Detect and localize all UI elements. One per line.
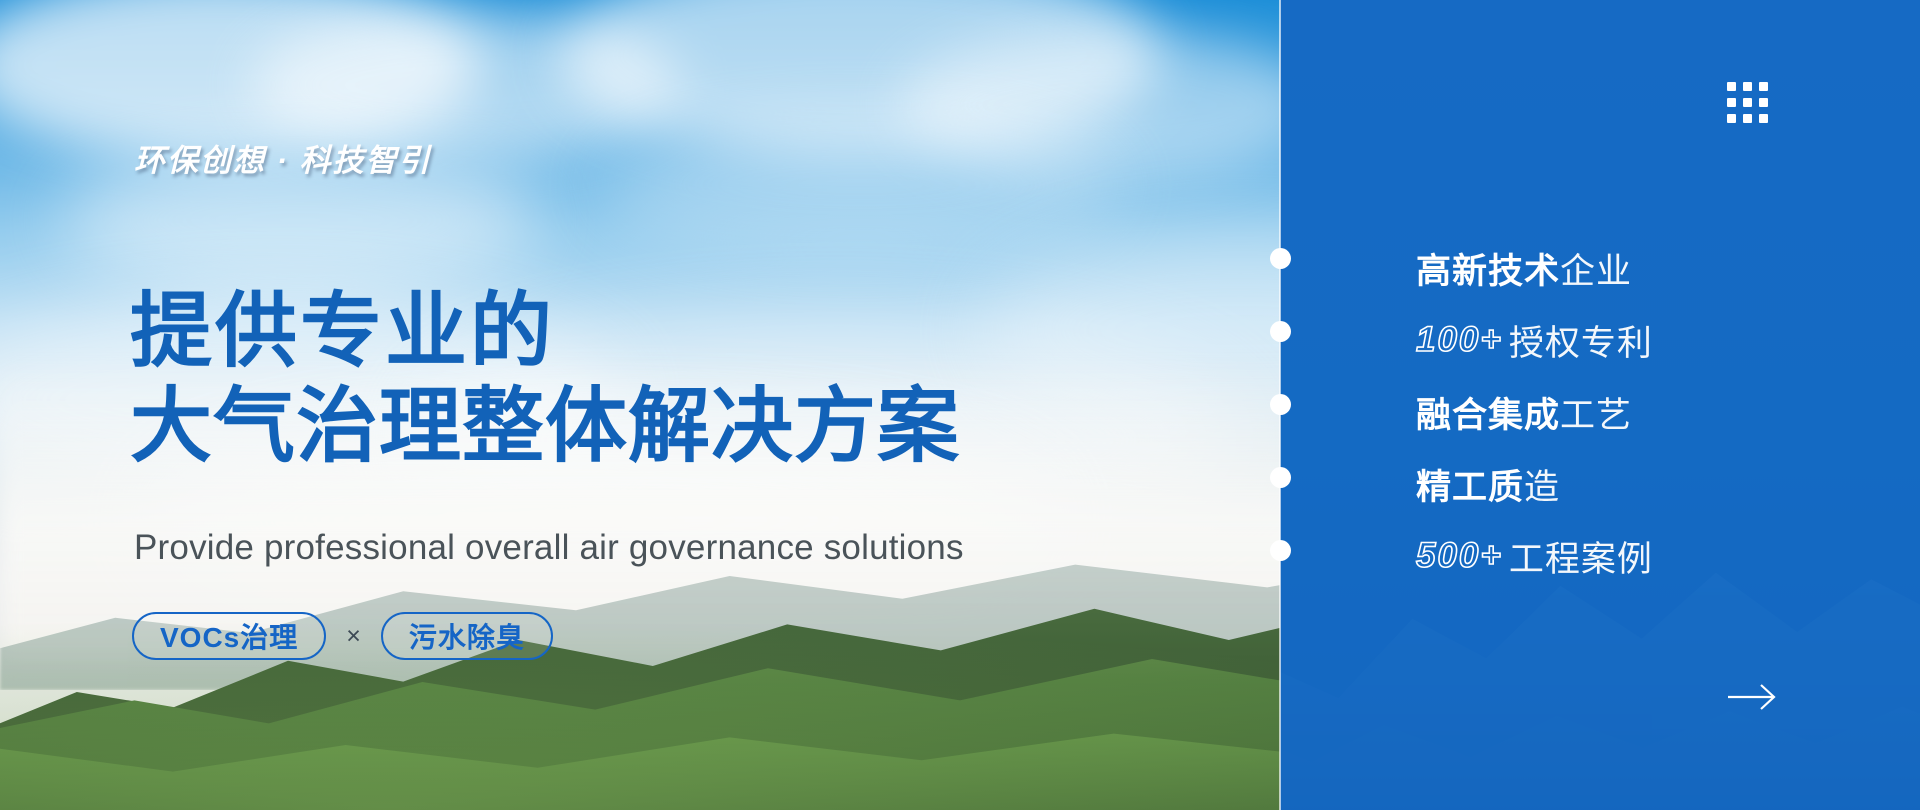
grid-cell [1743, 98, 1752, 107]
tag-separator: × [344, 622, 363, 651]
tagline: 环保创想 · 科技智引 [134, 135, 432, 180]
hero-content: 环保创想 · 科技智引 提供专业的 大气治理整体解决方案 Provide pro… [0, 0, 1280, 810]
feature-rest: 企业 [1560, 243, 1632, 294]
feature-item-cases: 500+工程案例 [1416, 520, 1886, 592]
grid-cell [1743, 82, 1752, 91]
grid-cell [1759, 114, 1768, 123]
arrow-right-icon[interactable] [1728, 682, 1780, 712]
feature-emphasis: 高新技术 [1416, 243, 1560, 294]
feature-rest: 造 [1524, 459, 1560, 510]
hero-banner: 环保创想 · 科技智引 提供专业的 大气治理整体解决方案 Provide pro… [0, 0, 1920, 810]
feature-rest: 工艺 [1560, 387, 1632, 438]
feature-list: 高新技术企业 100+授权专利 融合集成工艺 精工质造 500+工程案例 [1416, 232, 1886, 592]
feature-item-craftsmanship: 精工质造 [1416, 448, 1886, 520]
feature-rest: 工程案例 [1509, 531, 1653, 582]
service-tag-vocs[interactable]: VOCs治理 [132, 612, 326, 660]
feature-item-integration: 融合集成工艺 [1416, 376, 1886, 448]
grid-cell [1759, 98, 1768, 107]
feature-emphasis: 精工质 [1416, 459, 1524, 510]
service-tag-odor[interactable]: 污水除臭 [381, 612, 553, 660]
service-tag-group: VOCs治理 × 污水除臭 [132, 612, 553, 660]
grid-cell [1727, 98, 1736, 107]
grid-cell [1759, 82, 1768, 91]
feature-emphasis: 100+ [1416, 320, 1503, 360]
feature-rest: 授权专利 [1509, 315, 1653, 366]
grid-menu-icon[interactable] [1727, 82, 1768, 123]
feature-item-patents: 100+授权专利 [1416, 304, 1886, 376]
headline-line-2: 大气治理整体解决方案 [130, 379, 960, 474]
feature-emphasis: 融合集成 [1416, 387, 1560, 438]
bullet-dot-column [1280, 0, 1320, 810]
feature-emphasis: 500+ [1416, 536, 1503, 576]
headline-line-1: 提供专业的 [130, 284, 960, 379]
subtitle: Provide professional overall air governa… [134, 528, 964, 568]
grid-cell [1743, 114, 1752, 123]
feature-item-high-tech: 高新技术企业 [1416, 232, 1886, 304]
grid-cell [1727, 114, 1736, 123]
page-title: 提供专业的 大气治理整体解决方案 [130, 284, 960, 474]
grid-cell [1727, 82, 1736, 91]
